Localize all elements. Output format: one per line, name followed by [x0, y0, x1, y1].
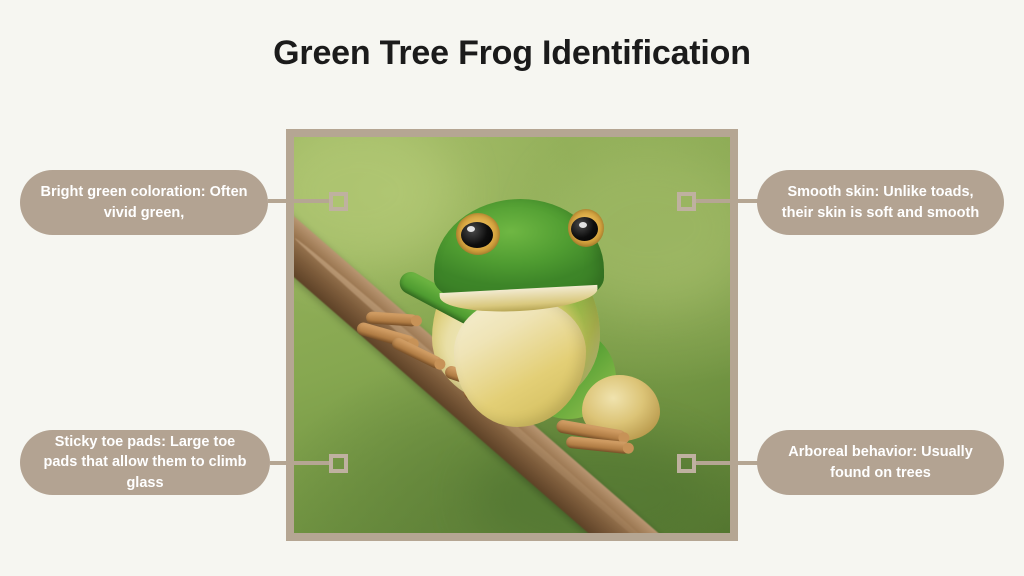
- callout-label: Bright green coloration: Often vivid gre…: [36, 182, 252, 223]
- frog-figure: [294, 137, 730, 533]
- frog-image-frame: [286, 129, 738, 541]
- frog-photo: [294, 137, 730, 533]
- frog-pupil: [571, 217, 598, 241]
- callout-label: Smooth skin: Unlike toads, their skin is…: [773, 182, 988, 223]
- connector-line-bottom-right: [696, 461, 758, 465]
- connector-line-bottom-left: [270, 461, 332, 465]
- callout-label: Arboreal behavior: Usually found on tree…: [773, 442, 988, 483]
- callout-label: Sticky toe pads: Large toe pads that all…: [36, 432, 254, 494]
- square-marker-icon: [677, 192, 696, 211]
- frog-eye-glint: [467, 226, 475, 232]
- callout-bright-green-coloration[interactable]: Bright green coloration: Often vivid gre…: [20, 170, 268, 235]
- square-marker-icon: [677, 454, 696, 473]
- frog-eye-glint: [579, 222, 587, 228]
- square-marker-icon: [329, 192, 348, 211]
- frog-pupil: [461, 222, 493, 248]
- connector-line-top-left: [268, 199, 332, 203]
- callout-sticky-toe-pads[interactable]: Sticky toe pads: Large toe pads that all…: [20, 430, 270, 495]
- frog-eye-left: [456, 213, 500, 255]
- page-title: Green Tree Frog Identification: [0, 33, 1024, 74]
- square-marker-icon: [329, 454, 348, 473]
- connector-line-top-right: [696, 199, 758, 203]
- callout-arboreal-behavior[interactable]: Arboreal behavior: Usually found on tree…: [757, 430, 1004, 495]
- callout-smooth-skin[interactable]: Smooth skin: Unlike toads, their skin is…: [757, 170, 1004, 235]
- infographic-canvas: Green Tree Frog Identification: [0, 0, 1024, 576]
- frog-eye-right: [568, 209, 604, 247]
